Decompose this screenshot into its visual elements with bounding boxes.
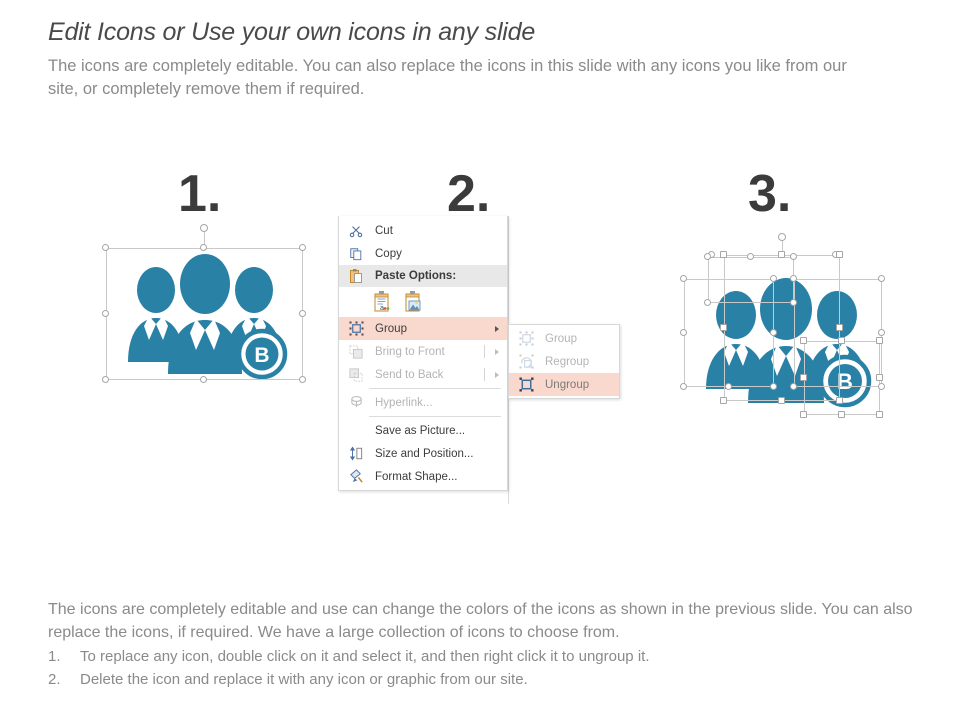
icon-stage-grouped[interactable]: B — [108, 250, 303, 380]
menu-item-group[interactable]: Group — [339, 317, 507, 340]
page-title: Edit Icons or Use your own icons in any … — [48, 18, 928, 47]
selection-handle[interactable] — [876, 411, 883, 418]
menu-item-label: Bring to Front — [369, 346, 445, 358]
scissors-icon — [343, 222, 369, 240]
menu-separator — [369, 388, 501, 389]
chevron-right-icon — [495, 326, 499, 332]
menu-item-label: Save as Picture... — [369, 425, 465, 437]
selection-handle[interactable] — [878, 329, 885, 336]
selection-handle[interactable] — [836, 251, 843, 258]
step-number-3: 3. — [748, 168, 791, 220]
menu-item-cut[interactable]: Cut — [339, 219, 507, 242]
bring-to-front-icon — [343, 343, 369, 361]
submenu-item-label: Group — [539, 333, 577, 345]
selection-handle-e[interactable] — [299, 310, 306, 317]
selection-handle[interactable] — [878, 275, 885, 282]
menu-item-label: Copy — [369, 248, 402, 260]
paste-options-row[interactable]: a — [339, 287, 507, 317]
selection-handle-se[interactable] — [299, 376, 306, 383]
copy-icon — [343, 245, 369, 263]
size-position-icon — [343, 445, 369, 463]
submenu-item-group[interactable]: Group — [509, 327, 619, 350]
ungroup-icon — [513, 376, 539, 394]
menu-item-hyperlink[interactable]: Hyperlink... — [339, 391, 507, 414]
chevron-right-icon — [495, 349, 499, 355]
selection-handle-nw[interactable] — [102, 244, 109, 251]
rotation-handle[interactable] — [200, 224, 208, 232]
menu-item-send-to-back[interactable]: Send to Back — [339, 363, 507, 386]
list-item: 2. Delete the icon and replace it with a… — [48, 669, 938, 692]
selection-handle[interactable] — [680, 329, 687, 336]
selection-handle[interactable] — [778, 251, 785, 258]
menu-item-size-and-position[interactable]: Size and Position... — [339, 442, 507, 465]
paste-as-picture-icon[interactable] — [404, 290, 423, 315]
send-to-back-icon — [343, 366, 369, 384]
menu-item-label: Paste Options: — [369, 270, 456, 282]
footer-list: 1. To replace any icon, double click on … — [48, 646, 938, 691]
menu-item-bring-to-front[interactable]: Bring to Front — [339, 340, 507, 363]
menu-item-label: Cut — [369, 225, 393, 237]
selection-handle[interactable] — [800, 374, 807, 381]
selection-handle-ne[interactable] — [299, 244, 306, 251]
paste-keep-source-formatting-icon[interactable]: a — [373, 290, 392, 315]
selection-handle-w[interactable] — [102, 310, 109, 317]
selection-handle[interactable] — [790, 383, 797, 390]
selection-handle[interactable] — [878, 383, 885, 390]
menu-item-paste-options: Paste Options: — [339, 265, 507, 287]
menu-separator — [369, 416, 501, 417]
selection-handle-sw[interactable] — [102, 376, 109, 383]
group-submenu[interactable]: Group Regroup Ungroup — [508, 324, 620, 399]
selection-handle[interactable] — [838, 337, 845, 344]
clipboard-icon — [343, 267, 369, 285]
selection-handle[interactable] — [800, 337, 807, 344]
menu-item-label: Format Shape... — [369, 471, 457, 483]
selection-handle[interactable] — [790, 299, 797, 306]
selection-handle[interactable] — [836, 397, 843, 404]
selection-handle[interactable] — [778, 397, 785, 404]
svg-text:a: a — [380, 305, 384, 312]
menu-item-label: Hyperlink... — [369, 397, 433, 409]
context-menu[interactable]: Cut Copy Paste Options: — [338, 216, 508, 491]
selection-handle[interactable] — [876, 337, 883, 344]
regroup-icon — [513, 353, 539, 371]
selection-handle[interactable] — [725, 383, 732, 390]
selection-handle[interactable] — [747, 253, 754, 260]
selection-handle[interactable] — [770, 383, 777, 390]
slide-subtitle: The icons are completely editable. You c… — [48, 55, 878, 102]
selection-handle[interactable] — [770, 275, 777, 282]
selection-handle[interactable] — [836, 324, 843, 331]
menu-divider — [484, 345, 485, 358]
group-icon — [343, 320, 369, 338]
submenu-item-label: Ungroup — [539, 379, 589, 391]
step-number-2: 2. — [447, 168, 490, 220]
footer-notes: The icons are completely editable and us… — [48, 598, 938, 691]
selection-handle[interactable] — [770, 329, 777, 336]
selection-handle[interactable] — [704, 253, 711, 260]
slide-header: Edit Icons or Use your own icons in any … — [48, 18, 928, 102]
selection-handle[interactable] — [680, 275, 687, 282]
blank-icon — [343, 422, 369, 440]
selection-handle[interactable] — [720, 324, 727, 331]
selection-handle[interactable] — [720, 251, 727, 258]
list-item-number: 1. — [48, 646, 80, 669]
list-item: 1. To replace any icon, double click on … — [48, 646, 938, 669]
list-item-text: To replace any icon, double click on it … — [80, 646, 650, 669]
selection-handle-n[interactable] — [200, 244, 207, 251]
menu-item-save-as-picture[interactable]: Save as Picture... — [339, 419, 507, 442]
menu-item-format-shape[interactable]: Format Shape... — [339, 465, 507, 488]
menu-item-label: Group — [369, 323, 407, 335]
group-icon — [513, 330, 539, 348]
selection-handle[interactable] — [876, 374, 883, 381]
submenu-item-label: Regroup — [539, 356, 589, 368]
format-shape-icon — [343, 468, 369, 486]
hyperlink-icon — [343, 394, 369, 412]
selection-frame[interactable] — [106, 248, 303, 380]
chevron-right-icon — [495, 372, 499, 378]
footer-paragraph: The icons are completely editable and us… — [48, 598, 938, 644]
selection-handle-s[interactable] — [200, 376, 207, 383]
list-item-text: Delete the icon and replace it with any … — [80, 669, 528, 692]
selection-handle[interactable] — [800, 411, 807, 418]
menu-item-copy[interactable]: Copy — [339, 242, 507, 265]
rotation-handle[interactable] — [778, 233, 786, 241]
selection-handle[interactable] — [838, 411, 845, 418]
selection-handle[interactable] — [704, 299, 711, 306]
step-number-1: 1. — [178, 168, 221, 220]
menu-item-label: Send to Back — [369, 369, 443, 381]
selection-handle[interactable] — [790, 253, 797, 260]
icon-stage-ungrouped[interactable]: B — [676, 255, 881, 415]
list-item-number: 2. — [48, 669, 80, 692]
menu-item-label: Size and Position... — [369, 448, 473, 460]
selection-handle[interactable] — [720, 397, 727, 404]
submenu-item-regroup[interactable]: Regroup — [509, 350, 619, 373]
submenu-item-ungroup[interactable]: Ungroup — [509, 373, 619, 396]
selection-handle[interactable] — [790, 275, 797, 282]
selection-handle[interactable] — [680, 383, 687, 390]
menu-divider — [484, 368, 485, 381]
